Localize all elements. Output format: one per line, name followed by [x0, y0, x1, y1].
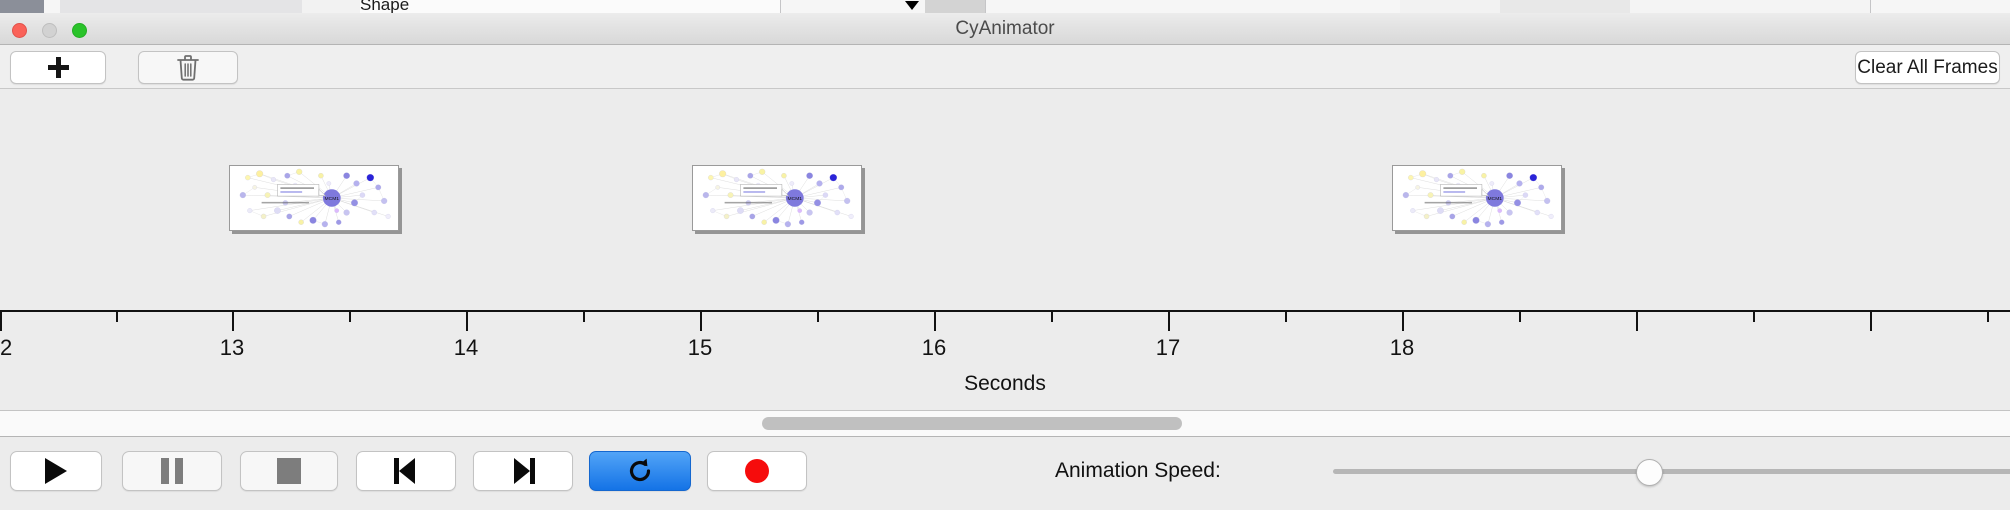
network-graph: MCM1: [230, 166, 398, 230]
timeline-tick: [1051, 312, 1053, 322]
timeline-tick: [349, 312, 351, 322]
title-bar: CyAnimator: [0, 13, 2010, 45]
playback-controls: Animation Speed:: [0, 438, 2010, 510]
hub-node-label: MCM1: [1488, 196, 1503, 202]
frame-thumbnail-1[interactable]: MCM1: [229, 165, 399, 231]
timeline-tick: [1519, 312, 1521, 322]
next-frame-button[interactable]: [473, 451, 573, 491]
background-window-fragment-label: Shape: [360, 0, 409, 14]
timeline-tick: [700, 312, 702, 331]
skip-back-icon: [394, 458, 418, 484]
network-graph: MCM1: [693, 166, 861, 230]
stop-icon: [277, 458, 301, 484]
timeline-scrollbar[interactable]: [0, 411, 2010, 437]
frame-thumbnail-3[interactable]: MCM1: [1392, 165, 1562, 231]
timeline-tick: [1987, 312, 1989, 322]
skip-forward-icon: [511, 458, 535, 484]
timeline-tick: [1870, 312, 1872, 331]
play-icon: [45, 458, 67, 484]
window-title: CyAnimator: [0, 13, 2010, 45]
add-frame-button[interactable]: [10, 51, 106, 84]
timeline-scrollbar-thumb[interactable]: [762, 417, 1182, 430]
animation-speed-slider-thumb[interactable]: [1636, 459, 1663, 486]
timeline-tick: [466, 312, 468, 331]
timeline-tick: [232, 312, 234, 331]
clear-all-frames-label: Clear All Frames: [1857, 57, 1997, 79]
network-graph: MCM1: [1393, 166, 1561, 230]
background-window-selection: [0, 0, 44, 13]
timeline-ruler: [0, 310, 2010, 312]
timeline-panel[interactable]: MCM1MCM1MCM1 12131415161718 Seconds: [0, 89, 2010, 411]
timeline-tick: [934, 312, 936, 331]
timeline-tick-label: 16: [922, 335, 946, 361]
animation-speed-slider[interactable]: [1333, 469, 2010, 474]
timeline-axis-title: Seconds: [0, 372, 2010, 396]
loop-button[interactable]: [589, 451, 691, 491]
frame-thumbnail-2[interactable]: MCM1: [692, 165, 862, 231]
trash-icon: [176, 54, 200, 81]
timeline-tick-label: 18: [1390, 335, 1414, 361]
timeline-tick: [583, 312, 585, 322]
timeline-tick-label: 17: [1156, 335, 1180, 361]
timeline-tick: [116, 312, 118, 322]
plus-icon: [48, 57, 69, 78]
play-button[interactable]: [10, 451, 102, 491]
record-button[interactable]: [707, 451, 807, 491]
hub-node-label: MCM1: [325, 196, 340, 202]
timeline-tick: [1636, 312, 1638, 331]
delete-frame-button[interactable]: [138, 51, 238, 84]
toolbar: Clear All Frames: [0, 45, 2010, 89]
cyanimator-window: Shape CyAnimator Clear All Frames MCM1MC…: [0, 0, 2010, 510]
animation-speed-label: Animation Speed:: [1055, 451, 1221, 491]
clear-all-frames-button[interactable]: Clear All Frames: [1855, 51, 2000, 84]
record-icon: [745, 459, 769, 483]
timeline-tick: [1168, 312, 1170, 331]
stop-button[interactable]: [240, 451, 338, 491]
prev-frame-button[interactable]: [356, 451, 456, 491]
timeline-tick: [1285, 312, 1287, 322]
hub-node-label: MCM1: [788, 196, 803, 202]
timeline-tick-label: 13: [220, 335, 244, 361]
timeline-tick: [0, 312, 2, 331]
pause-button[interactable]: [122, 451, 222, 491]
background-caret-icon: [905, 1, 919, 10]
timeline-tick: [1753, 312, 1755, 322]
background-window-strip: Shape: [0, 0, 2010, 14]
timeline-tick-label: 12: [0, 335, 12, 361]
timeline-tick: [817, 312, 819, 322]
timeline-tick-label: 14: [454, 335, 478, 361]
pause-icon: [161, 458, 183, 484]
loop-icon: [626, 457, 654, 485]
timeline-tick: [1402, 312, 1404, 331]
timeline-tick-label: 15: [688, 335, 712, 361]
